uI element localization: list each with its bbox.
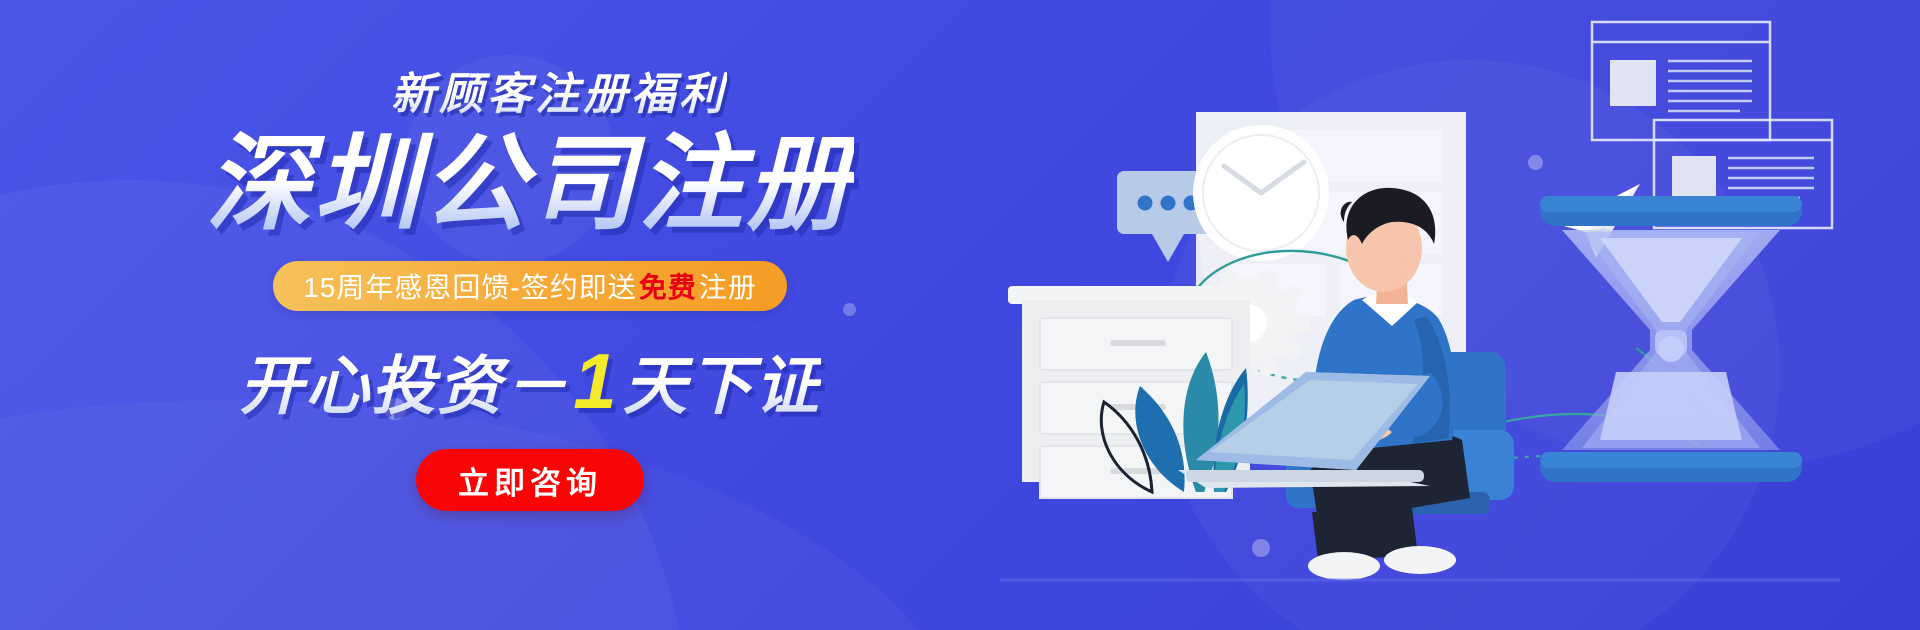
promo-badge-highlight: 免费 (637, 266, 699, 306)
hourglass (1540, 196, 1802, 482)
subheadline: 开心投资－ 1 天下证 (239, 335, 820, 427)
promo-badge-suffix: 注册 (699, 266, 757, 306)
subheadline-tail: 天下证 (623, 335, 821, 427)
subheadline-number: 1 (569, 336, 622, 427)
document-card (1592, 22, 1770, 140)
promo-badge-prefix: 15周年感恩回馈-签约即送 (303, 266, 636, 306)
headline-block: 新顾客注册福利 深圳公司注册 15周年感恩回馈-签约即送 免费 注册 开心投资－… (0, 0, 1060, 630)
consult-now-button[interactable]: 立即咨询 (416, 449, 644, 511)
clock-icon (1193, 125, 1329, 261)
promo-banner: 新顾客注册福利 深圳公司注册 15周年感恩回馈-签约即送 免费 注册 开心投资－… (0, 0, 1920, 630)
subheadline-lead: 开心投资－ (239, 335, 569, 427)
eyebrow-text: 新顾客注册福利 (391, 58, 727, 122)
illustration (1000, 0, 1920, 630)
page-title: 深圳公司注册 (206, 128, 854, 241)
promo-badge: 15周年感恩回馈-签约即送 免费 注册 (273, 261, 787, 311)
